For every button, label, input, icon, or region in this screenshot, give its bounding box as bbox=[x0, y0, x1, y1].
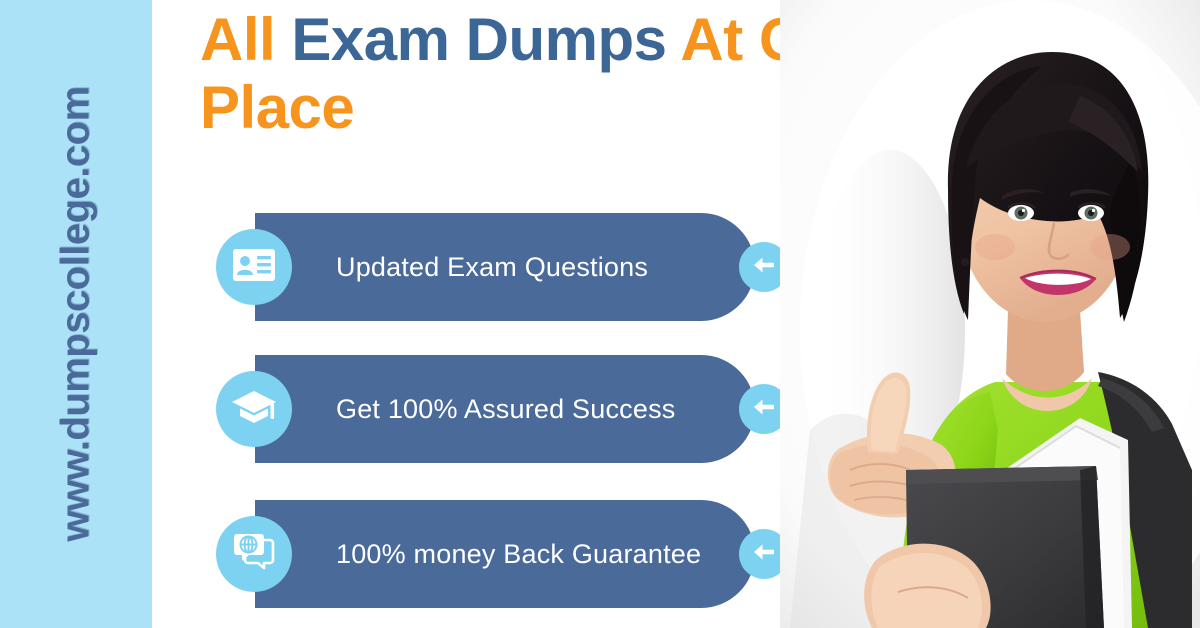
feature-row[interactable]: Get 100% Assured Success bbox=[216, 355, 796, 463]
feature-row[interactable]: Updated Exam Questions bbox=[216, 213, 796, 321]
arrow-left-icon bbox=[750, 540, 778, 569]
feature-label: Updated Exam Questions bbox=[336, 213, 648, 321]
arrow-left-icon bbox=[750, 395, 778, 424]
graduation-cap-icon bbox=[231, 389, 277, 430]
student-photo bbox=[780, 0, 1200, 628]
headline-part-all: All bbox=[200, 6, 291, 73]
feature-row[interactable]: 100% money Back Guarantee bbox=[216, 500, 796, 608]
arrow-left-icon bbox=[750, 253, 778, 282]
website-url-vertical: www.dumpscollege.com bbox=[54, 86, 99, 541]
feature-icon-badge bbox=[216, 229, 292, 305]
feature-icon-badge bbox=[216, 371, 292, 447]
globe-chat-icon bbox=[232, 532, 276, 577]
promo-banner: www.dumpscollege.com All Exam Dumps At O… bbox=[0, 0, 1200, 628]
headline-part-exam-dumps: Exam Dumps bbox=[291, 6, 680, 73]
feature-icon-badge bbox=[216, 516, 292, 592]
sidebar-brand-strip: www.dumpscollege.com bbox=[0, 0, 152, 628]
feature-label: 100% money Back Guarantee bbox=[336, 500, 701, 608]
feature-label: Get 100% Assured Success bbox=[336, 355, 675, 463]
id-card-icon bbox=[233, 249, 275, 286]
